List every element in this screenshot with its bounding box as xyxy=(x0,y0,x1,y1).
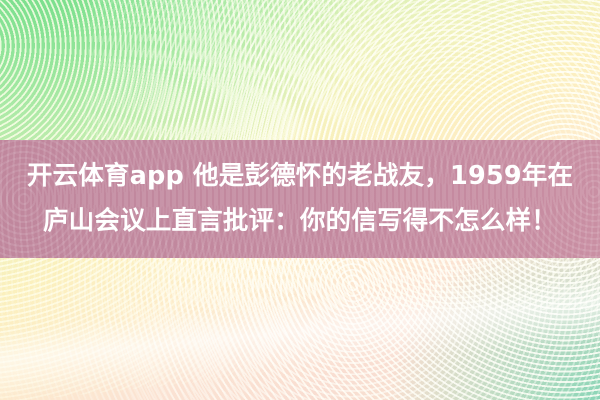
page-canvas: 开云体育app 他是彭德怀的老战友，1959年在 庐山会议上直言批评：你的信写得… xyxy=(0,0,600,400)
headline-banner: 开云体育app 他是彭德怀的老战友，1959年在 庐山会议上直言批评：你的信写得… xyxy=(0,140,600,258)
headline-line-2: 庐山会议上直言批评：你的信写得不怎么样！ xyxy=(0,199,600,244)
headline-line-1: 开云体育app 他是彭德怀的老战友，1959年在 xyxy=(0,154,600,199)
